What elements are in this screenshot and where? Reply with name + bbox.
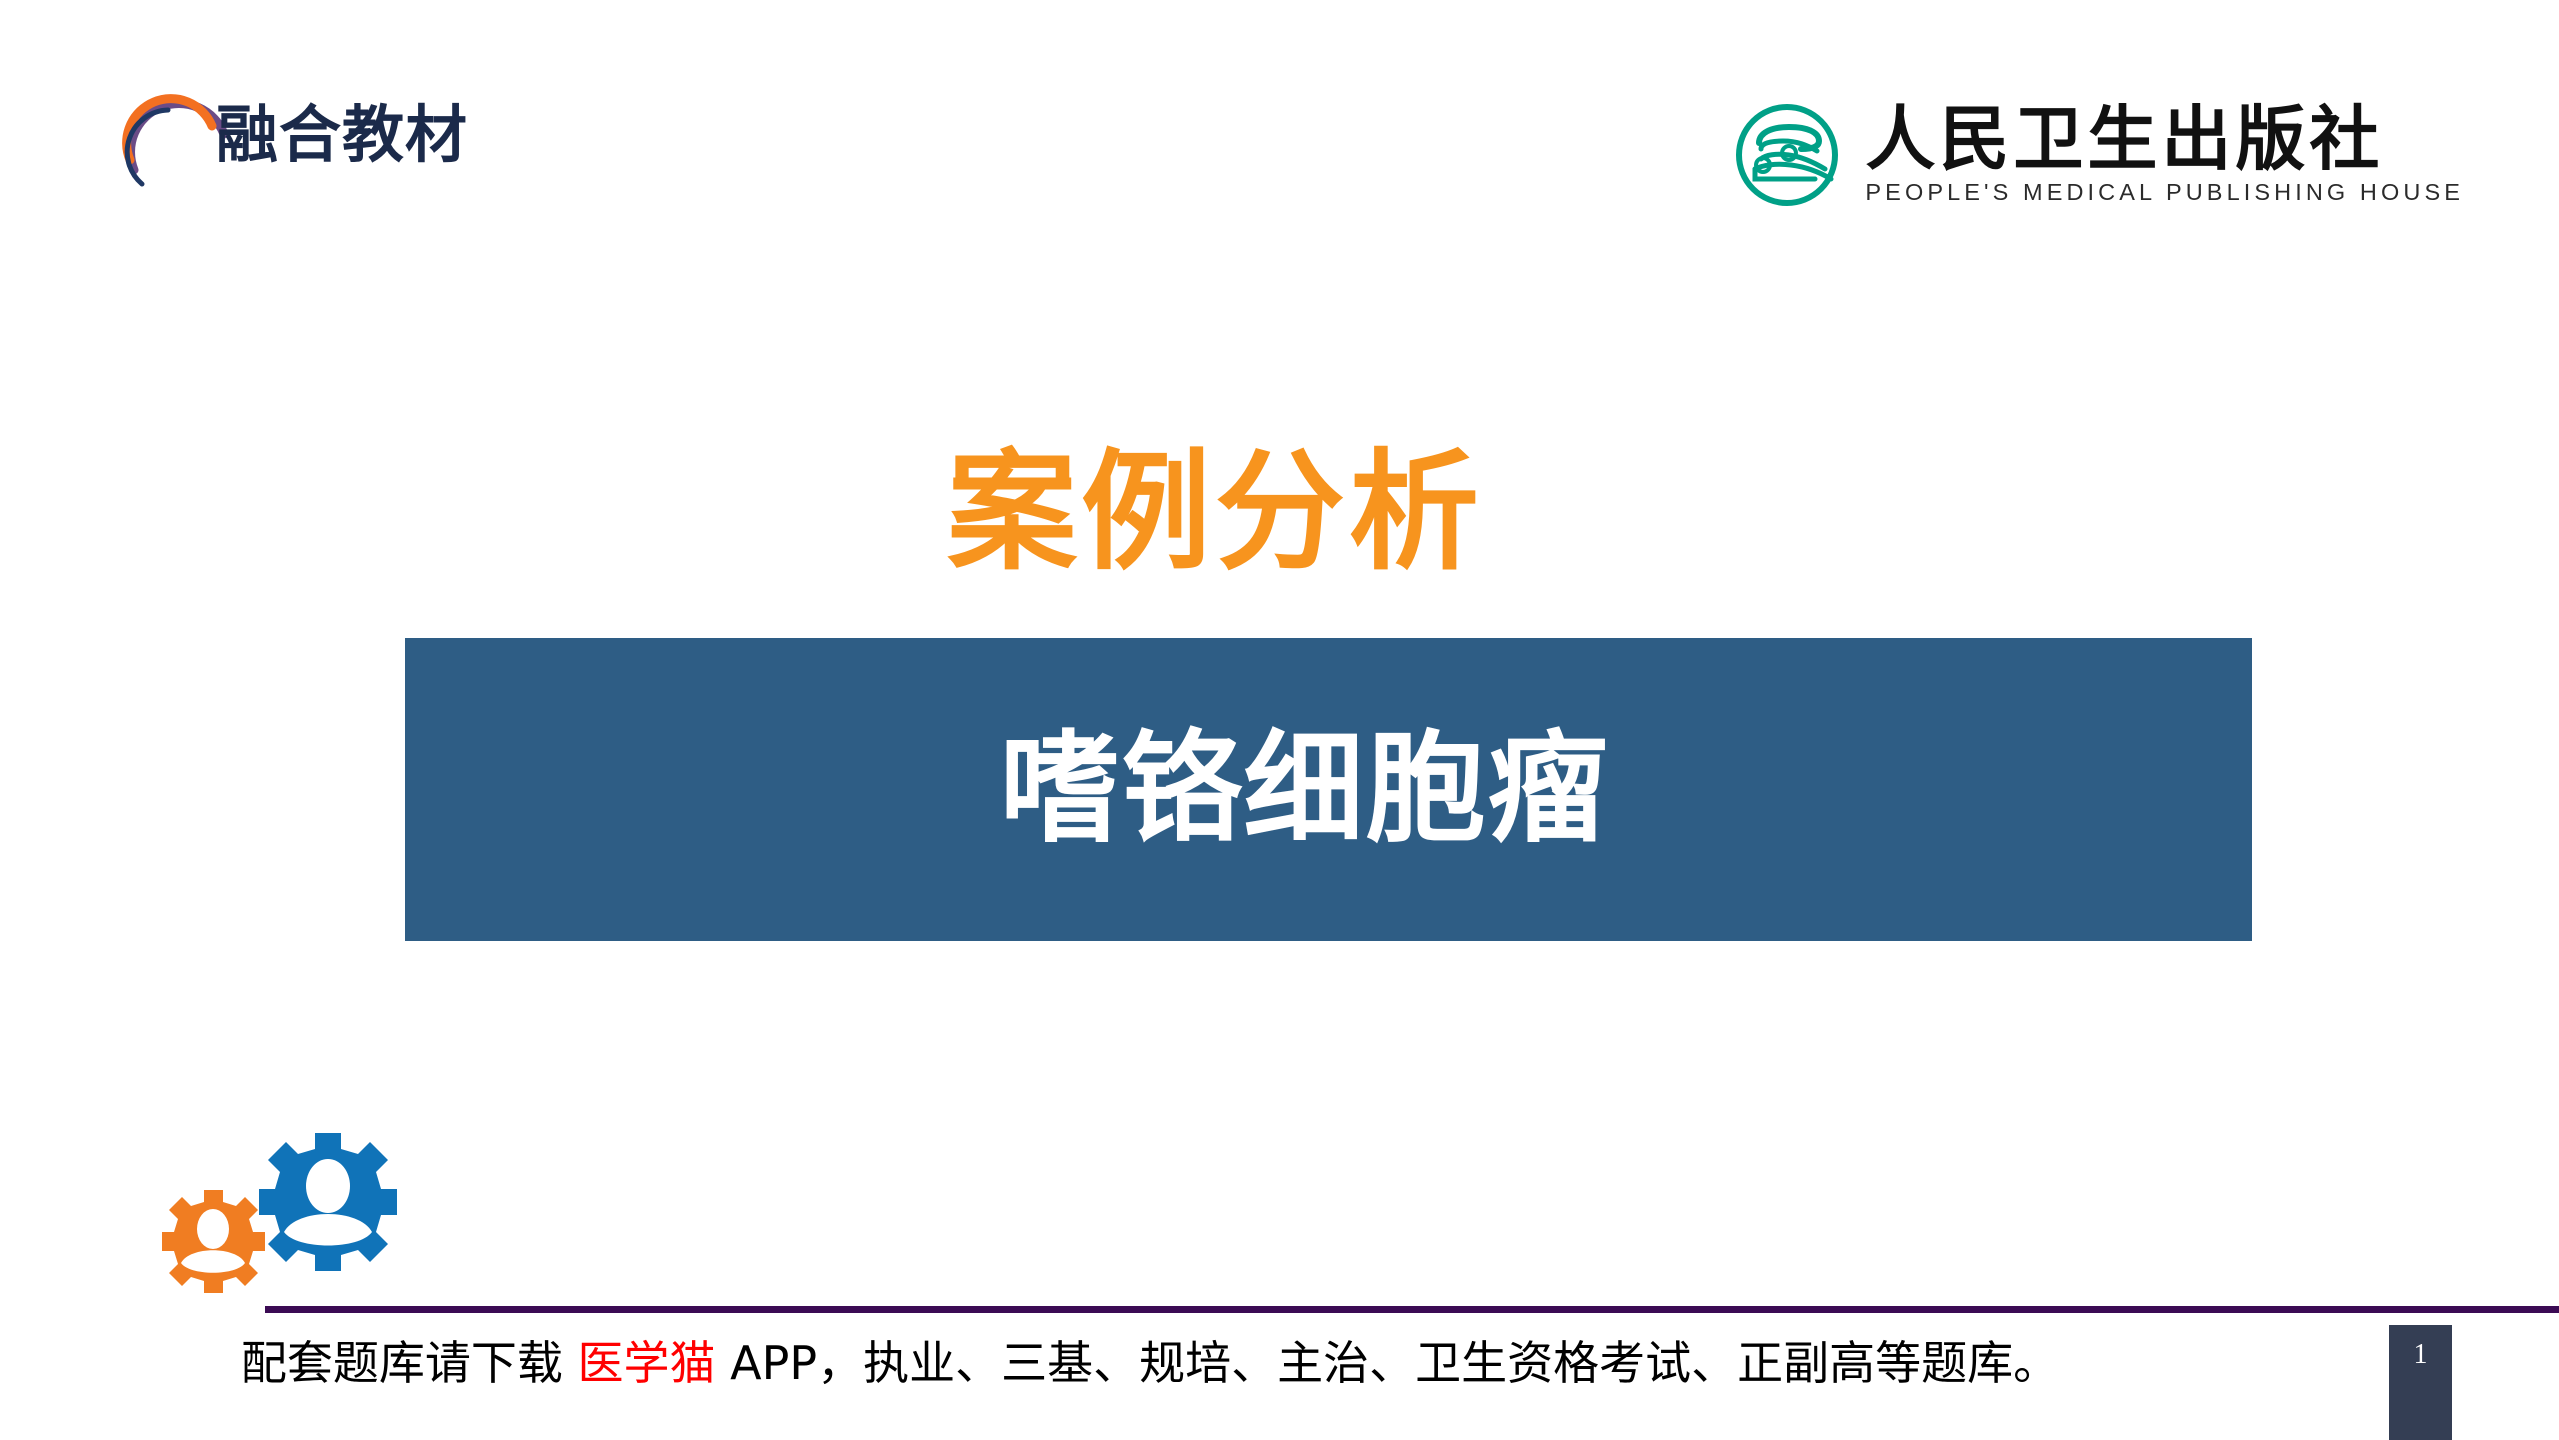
section-heading: 案例分析 <box>0 447 2430 577</box>
footer-caption-suffix: APP，执业、三基、规培、主治、卫生资格考试、正副高等题库。 <box>716 1336 2060 1390</box>
brand-logo: 融合教材 <box>120 82 420 192</box>
publisher-name-cn: 人民卫生出版社 <box>1865 104 2464 175</box>
footer-caption: 配套题库请下载 医学猫 APP，执业、三基、规培、主治、卫生资格考试、正副高等题… <box>0 1337 2300 1390</box>
publisher-logo: 人民卫生出版社 PEOPLE'S MEDICAL PUBLISHING HOUS… <box>1731 95 2464 215</box>
gears-group-icon <box>145 1128 420 1306</box>
pmph-emblem-icon <box>1731 99 1843 211</box>
publisher-name-en: PEOPLE'S MEDICAL PUBLISHING HOUSE <box>1865 179 2464 206</box>
footer-divider <box>265 1306 2559 1313</box>
footer-app-name: 医学猫 <box>578 1336 716 1390</box>
publisher-wordmark: 人民卫生出版社 PEOPLE'S MEDICAL PUBLISHING HOUS… <box>1865 104 2464 206</box>
gear-person-orange-icon <box>162 1190 265 1293</box>
gear-person-blue-icon <box>259 1133 397 1271</box>
footer-caption-prefix: 配套题库请下载 <box>241 1336 578 1390</box>
topic-title: 嗜铬细胞瘤 <box>1000 730 1610 850</box>
page-number-badge: 1 <box>2389 1325 2452 1440</box>
topic-banner: 嗜铬细胞瘤 <box>405 638 2252 941</box>
slide-canvas: 融合教材 人民卫生出版社 PEOPLE'S MEDICAL PUBLISHING… <box>0 0 2559 1440</box>
brand-name: 融合教材 <box>216 104 468 166</box>
gears-decoration <box>145 1128 420 1306</box>
